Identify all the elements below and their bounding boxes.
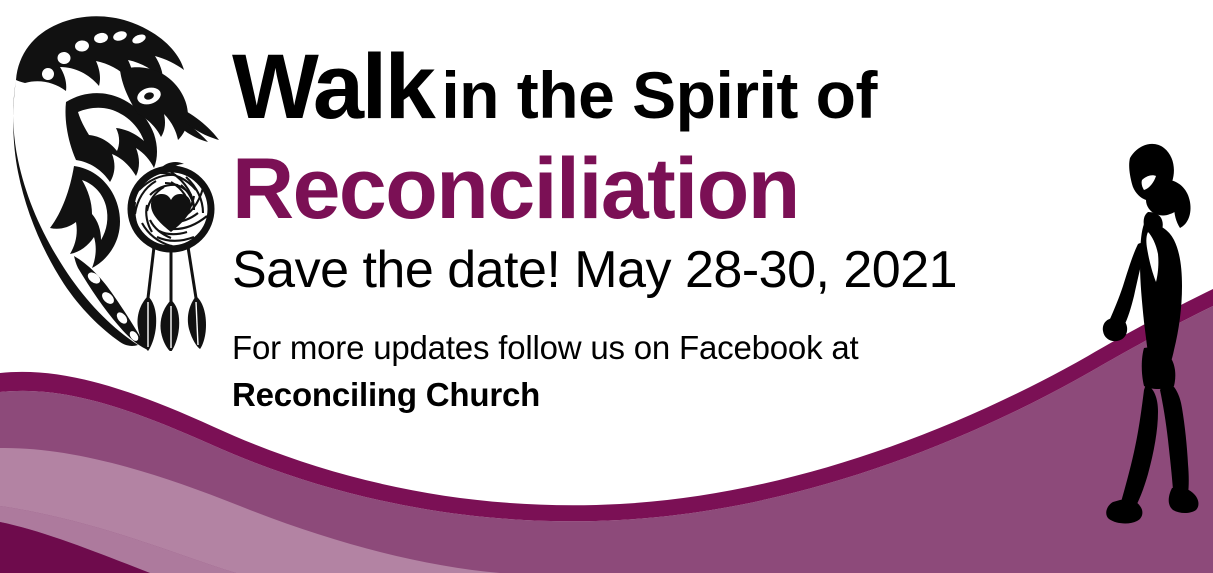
headline-emphasis-word: Walk [232, 36, 433, 138]
headline-line-1: Walkin the Spirit of [232, 44, 1112, 130]
walking-woman-silhouette-icon [1086, 140, 1206, 530]
banner-root: Walkin the Spirit of Reconciliation Save… [0, 0, 1213, 573]
save-the-date-line: Save the date! May 28-30, 2021 [232, 244, 1112, 296]
headline-accent-line: Reconciliation [232, 146, 1112, 232]
facebook-page-name: Reconciling Church [232, 378, 1112, 411]
headline-text-block: Walkin the Spirit of Reconciliation Save… [232, 44, 1112, 411]
hummingbird-dreamcatcher-icon [8, 6, 223, 351]
headline-rest-words: in the Spirit of [441, 58, 877, 132]
follow-instruction-line: For more updates follow us on Facebook a… [232, 331, 1112, 364]
heart-shape [151, 194, 191, 232]
